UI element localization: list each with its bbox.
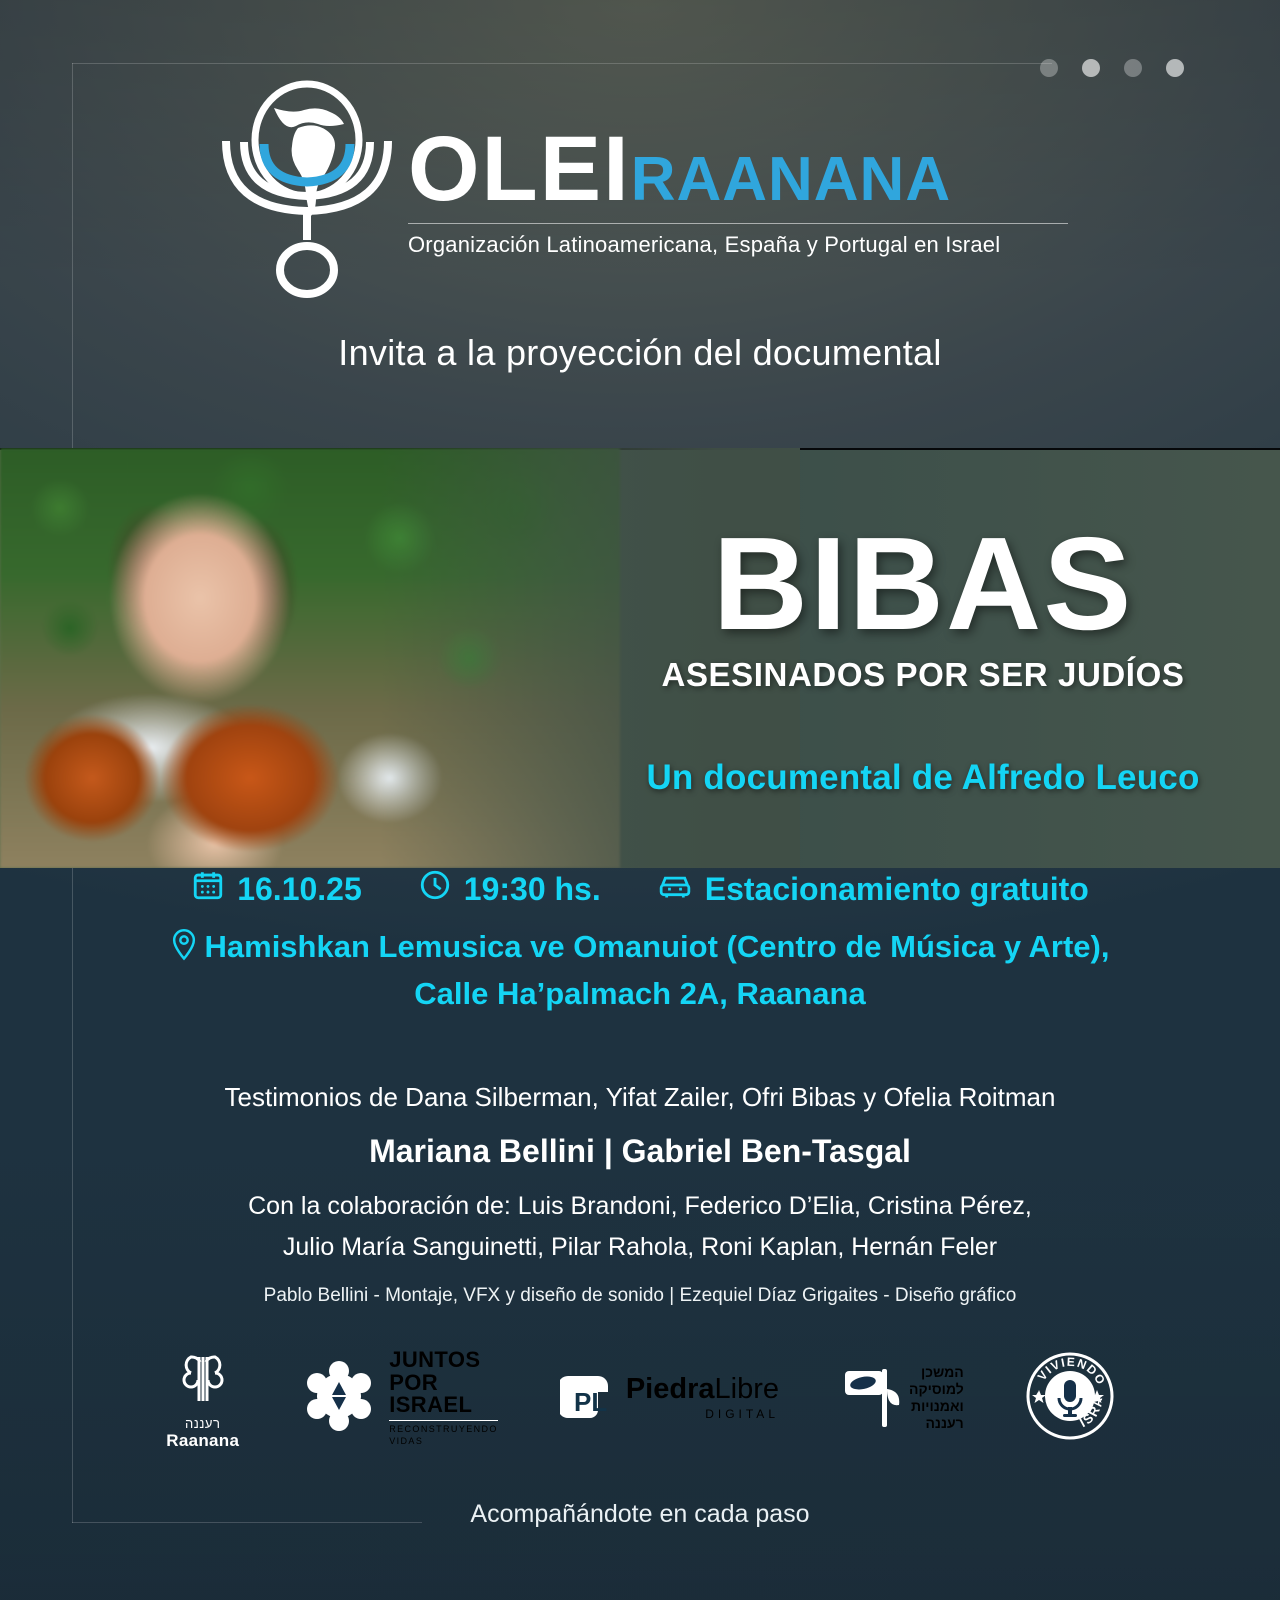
- footer-tagline: Acompañándote en cada paso: [0, 1500, 1280, 1529]
- brand-divider: [408, 223, 1068, 224]
- event-info-row: 16.10.25 19:30 hs. Estacionamiento gratu…: [0, 868, 1280, 910]
- calendar-icon: [191, 868, 225, 910]
- event-parking-value: Estacionamiento gratuito: [705, 871, 1089, 908]
- carousel-dot-3[interactable]: [1124, 59, 1142, 77]
- credits-collab-line2: Julio María Sanguinetti, Pilar Rahola, R…: [0, 1227, 1280, 1268]
- event-time: 19:30 hs.: [418, 868, 601, 910]
- clock-icon: [418, 868, 452, 910]
- sponsor-piedra-wordmark: PiedraLibre DIGITAL: [626, 1375, 779, 1421]
- sponsor-juntos-por-israel: JUNTOS POR ISRAEL RECONSTRUYENDO VIDAS: [301, 1349, 498, 1447]
- carousel-dot-4[interactable]: [1166, 59, 1184, 77]
- sponsor-raanana-name: Raanana: [166, 1431, 239, 1451]
- invite-text: Invita a la proyección del documental: [0, 332, 1280, 374]
- carousel-dot-1[interactable]: [1040, 59, 1058, 77]
- microphone-badge-icon: VIVIENDO ISRAEL: [1026, 1352, 1114, 1445]
- event-venue-line1-wrap: Hamishkan Lemusica ve Omanuiot (Centro d…: [0, 926, 1280, 973]
- star-of-david-flower-icon: [301, 1358, 377, 1439]
- event-info: 16.10.25 19:30 hs. Estacionamiento gratu…: [0, 868, 1280, 1016]
- globe-microphone-icon: [212, 78, 402, 298]
- car-icon: [657, 868, 693, 910]
- sponsor-piedra-libre: PL PiedraLibre DIGITAL: [560, 1370, 779, 1427]
- film-title: BIBAS: [713, 518, 1134, 650]
- sponsor-mishkan-he4: רעננה: [909, 1415, 964, 1432]
- brand-logo: OLEI RAANANA Organización Latinoamerican…: [0, 78, 1280, 298]
- sponsor-viviendo-israel: VIVIENDO ISRAEL: [1026, 1352, 1114, 1445]
- frame-line-top: [72, 63, 1052, 64]
- credits-collab-line1: Con la colaboración de: Luis Brandoni, F…: [0, 1186, 1280, 1227]
- event-parking: Estacionamiento gratuito: [657, 868, 1089, 910]
- sponsor-mishkan-he3: ואמנויות: [909, 1398, 964, 1415]
- hero-band: BIBAS ASESINADOS POR SER JUDÍOS Un docum…: [0, 448, 1280, 868]
- sponsor-logos: רעננה Raanana JUNTOS POR ISRAEL RECONSTR…: [0, 1345, 1280, 1451]
- sponsor-juntos-line2: POR: [389, 1372, 498, 1394]
- sponsor-raanana-hebrew: רעננה: [185, 1416, 220, 1431]
- sponsor-juntos-line3: ISRAEL: [389, 1394, 498, 1416]
- pl-monogram-icon: PL: [560, 1370, 618, 1427]
- event-time-value: 19:30 hs.: [464, 871, 601, 908]
- sponsor-piedra-bold: Piedra: [626, 1373, 715, 1405]
- svg-text:PL: PL: [574, 1387, 607, 1417]
- sponsor-juntos-wordmark: JUNTOS POR ISRAEL RECONSTRUYENDO VIDAS: [389, 1349, 498, 1447]
- credits-collab: Con la colaboración de: Luis Brandoni, F…: [0, 1186, 1280, 1267]
- sponsor-mishkan-he2: למוסיקה: [909, 1381, 964, 1398]
- sponsor-piedra-sub: DIGITAL: [626, 1407, 779, 1421]
- brand-wordmark: OLEI RAANANA Organización Latinoamerican…: [408, 126, 1068, 258]
- carousel-dots[interactable]: [1040, 59, 1184, 77]
- carousel-dot-2[interactable]: [1082, 59, 1100, 77]
- brand-name-primary: OLEI: [408, 126, 631, 213]
- sponsor-piedra-light: Libre: [715, 1373, 780, 1405]
- film-title-block: BIBAS ASESINADOS POR SER JUDÍOS Un docum…: [580, 448, 1280, 868]
- leaf-sprout-icon: [841, 1363, 901, 1434]
- credits-hosts: Mariana Bellini | Gabriel Ben-Tasgal: [0, 1133, 1280, 1170]
- event-date: 16.10.25: [191, 868, 362, 910]
- sponsor-mishkan-hebrew: המשכן למוסיקה ואמנויות רעננה: [909, 1364, 964, 1432]
- sponsor-juntos-line1: JUNTOS: [389, 1349, 498, 1371]
- event-date-value: 16.10.25: [237, 871, 362, 908]
- film-director: Un documental de Alfredo Leuco: [646, 758, 1199, 798]
- brand-tagline: Organización Latinoamericana, España y P…: [408, 232, 1068, 258]
- event-venue-line2: Calle Ha’palmach 2A, Raanana: [0, 973, 1280, 1016]
- film-subtitle: ASESINADOS POR SER JUDÍOS: [662, 656, 1185, 694]
- sponsor-juntos-rule: [389, 1420, 498, 1421]
- sponsor-mishkan-raanana: המשכן למוסיקה ואמנויות רעננה: [841, 1363, 964, 1434]
- sponsor-juntos-sub2: VIDAS: [389, 1436, 498, 1447]
- credits-testimonials: Testimonios de Dana Silberman, Yifat Zai…: [0, 1078, 1280, 1117]
- event-venue: Hamishkan Lemusica ve Omanuiot (Centro d…: [0, 926, 1280, 1016]
- sponsor-mishkan-he1: המשכן: [909, 1364, 964, 1381]
- raanana-tree-icon: [171, 1345, 235, 1414]
- event-venue-line1: Hamishkan Lemusica ve Omanuiot (Centro d…: [205, 929, 1110, 964]
- sponsor-raanana: רעננה Raanana: [166, 1345, 239, 1451]
- credits-block: Testimonios de Dana Silberman, Yifat Zai…: [0, 1078, 1280, 1307]
- poster-header: OLEI RAANANA Organización Latinoamerican…: [0, 78, 1280, 374]
- map-pin-icon: [171, 929, 197, 973]
- credits-technical: Pablo Bellini - Montaje, VFX y diseño de…: [0, 1285, 1280, 1307]
- sponsor-juntos-sub1: RECONSTRUYENDO: [389, 1424, 498, 1435]
- brand-name-secondary: RAANANA: [631, 151, 951, 210]
